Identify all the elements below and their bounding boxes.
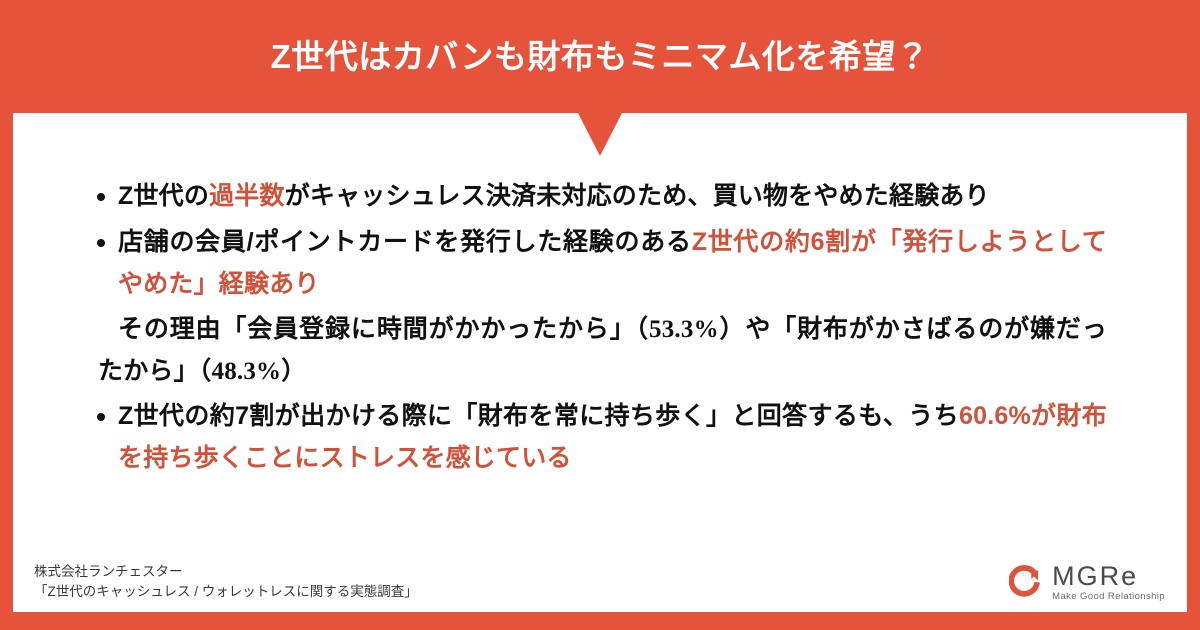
footer-source: 株式会社ランチェスター 「Z世代のキャッシュレス / ウォレットレスに関する実態… xyxy=(34,562,418,602)
sub-note-text: その理由「会員登録に時間がかかったから」（53.3%）や「財布がかさばるのが嫌だ… xyxy=(13,309,1177,393)
bullet-text-plain: 店舗の会員/ポイントカードを発行した経験のある xyxy=(118,228,692,256)
bullet-list: Z世代の過半数がキャッシュレス決済未対応のため、買い物をやめた経験あり 店舗の会… xyxy=(13,175,1177,305)
list-item: Z世代の過半数がキャッシュレス決済未対応のため、買い物をやめた経験あり xyxy=(118,175,1177,217)
bullet-text-highlight: 過半数 xyxy=(209,182,285,210)
poster: Z世代はカバンも財布もミニマム化を希望？ Z世代の過半数がキャッシュレス決済未対… xyxy=(0,0,1200,630)
mgre-logo-name: MGRe xyxy=(1052,562,1165,591)
bullet-text-plain: Z世代の xyxy=(118,182,209,210)
bullet-text-plain-2: がキャッシュレス決済未対応のため、買い物をやめた経験あり xyxy=(285,182,990,210)
list-item: Z世代の約7割が出かける際に「財布を常に持ち歩く」と回答するも、うち60.6%が… xyxy=(118,395,1177,479)
header-band: Z世代はカバンも財布もミニマム化を希望？ xyxy=(0,0,1200,113)
mgre-logo-words: MGRe Make Good Relationship xyxy=(1052,562,1165,603)
mgre-logo: MGRe Make Good Relationship xyxy=(1009,562,1165,603)
mgre-logo-tagline: Make Good Relationship xyxy=(1052,591,1165,603)
page-title: Z世代はカバンも財布もミニマム化を希望？ xyxy=(271,40,930,73)
list-item: 店舗の会員/ポイントカードを発行した経験のあるZ世代の約6割が「発行しようとして… xyxy=(118,221,1177,305)
footer: 株式会社ランチェスター 「Z世代のキャッシュレス / ウォレットレスに関する実態… xyxy=(13,552,1187,612)
footer-company: 株式会社ランチェスター xyxy=(34,562,418,582)
bullet-list-continued: Z世代の約7割が出かける際に「財布を常に持ち歩く」と回答するも、うち60.6%が… xyxy=(13,395,1177,479)
speech-notch-icon xyxy=(578,113,622,156)
bullet-text-plain: Z世代の約7割が出かける際に「財布を常に持ち歩く」と回答するも、うち xyxy=(118,402,959,430)
mgre-logo-mark-icon xyxy=(1009,565,1043,599)
footer-survey-title: 「Z世代のキャッシュレス / ウォレットレスに関する実態調査」 xyxy=(34,582,418,602)
body-area: Z世代の過半数がキャッシュレス決済未対応のため、買い物をやめた経験あり 店舗の会… xyxy=(13,175,1187,483)
